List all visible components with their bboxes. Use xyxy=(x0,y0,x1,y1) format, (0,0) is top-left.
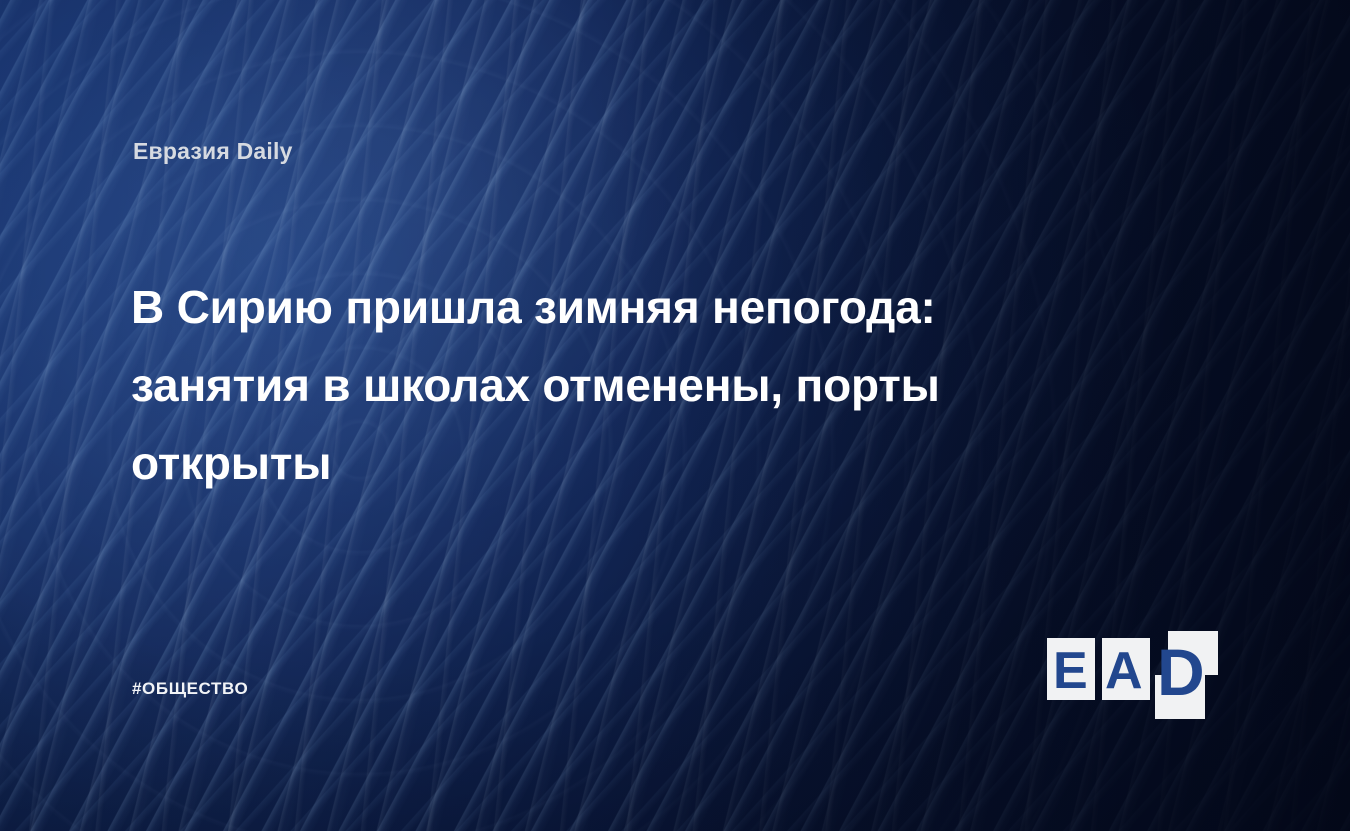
logo-letter-a: A xyxy=(1105,645,1143,697)
category-tag[interactable]: #ОБЩЕСТВО xyxy=(132,679,248,699)
news-cover-card: Евразия Daily В Сирию пришла зимняя непо… xyxy=(0,0,1350,831)
logo-letter-e: E xyxy=(1053,645,1088,697)
brand-name: Евразия Daily xyxy=(133,138,293,165)
headline-title: В Сирию пришла зимняя непогода: занятия … xyxy=(131,268,1111,502)
ead-logo: E A D xyxy=(1045,625,1225,710)
logo-letter-d: D xyxy=(1157,639,1205,705)
cover-content: Евразия Daily В Сирию пришла зимняя непо… xyxy=(0,0,1350,831)
